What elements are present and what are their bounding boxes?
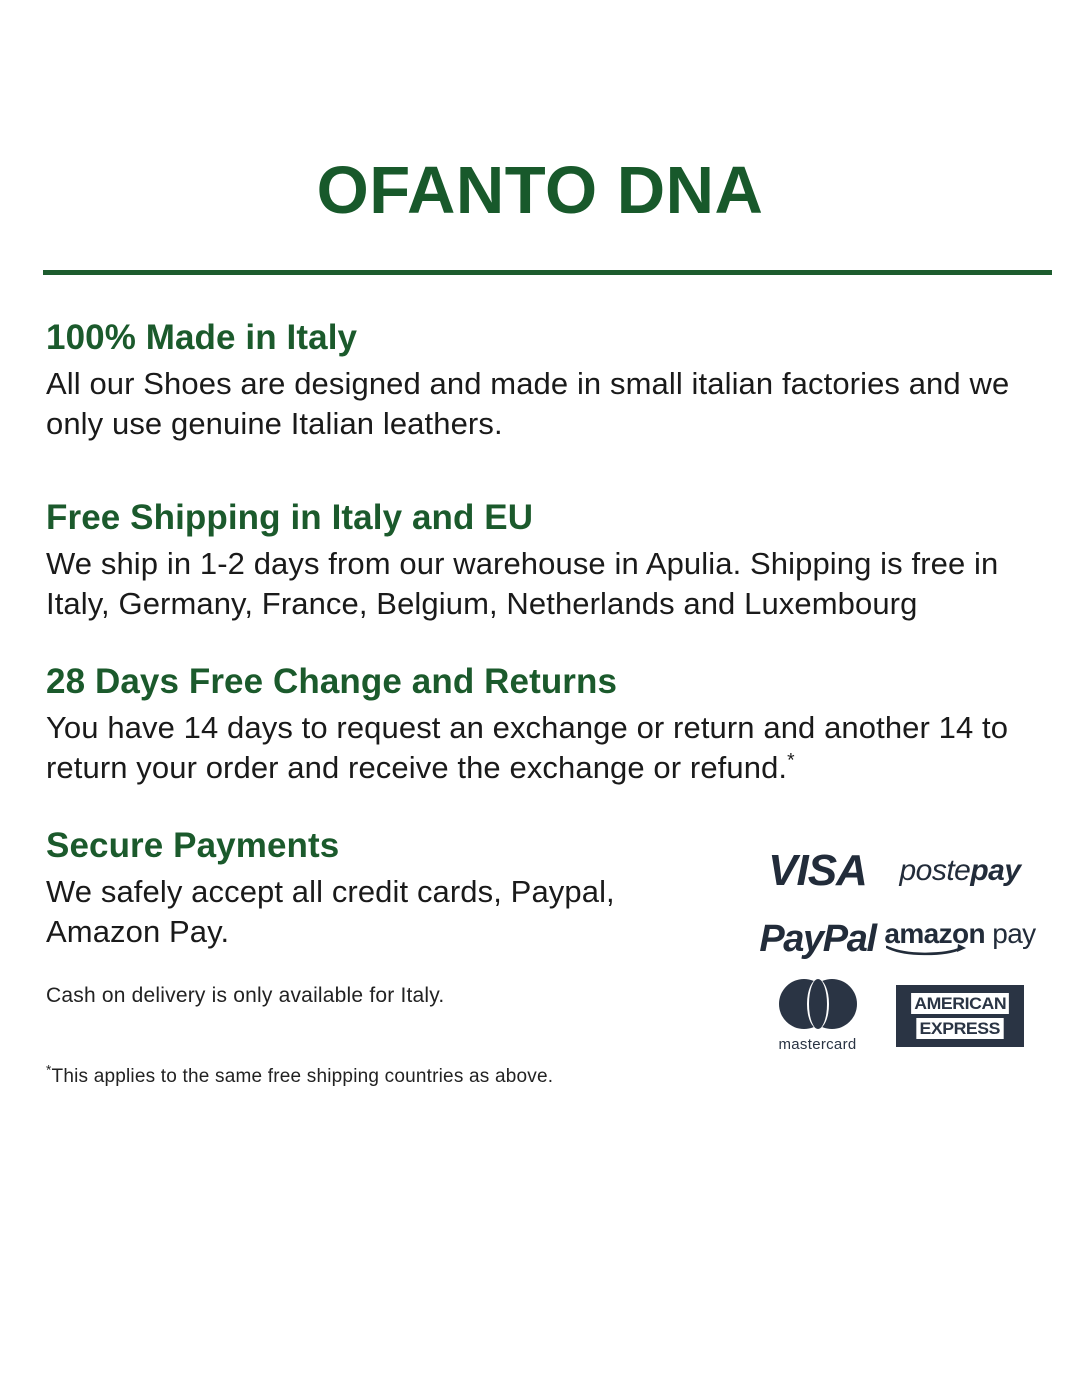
spacer [46,625,1036,661]
amex-line-1: AMERICAN [911,993,1009,1014]
postepay-logo-cell: postepay [885,856,1035,886]
payment-logo-row-3: mastercard AMERICAN EXPRESS [750,973,1040,1059]
amazon-pay-logo-cell: amazon pay [885,920,1035,957]
returns-footnote-marker: * [787,751,795,772]
amex-line-2: EXPRESS [917,1018,1004,1039]
spacer [46,789,1036,825]
section-heading-made-in-italy: 100% Made in Italy [46,317,1036,358]
amazon-pay-label-light: pay [985,918,1036,949]
cash-on-delivery-note: Cash on delivery is only available for I… [46,982,686,1009]
mastercard-label: mastercard [778,1036,856,1053]
section-returns: 28 Days Free Change and Returns You have… [46,661,1036,789]
footer-note: *This applies to the same free shipping … [46,1066,1036,1088]
header-divider [43,270,1052,275]
section-free-shipping: Free Shipping in Italy and EU We ship in… [46,497,1036,625]
amazon-pay-icon: amazon pay [884,920,1035,957]
section-heading-secure-payments: Secure Payments [46,825,686,866]
paypal-logo-cell: PayPal [750,920,885,958]
section-made-in-italy: 100% Made in Italy All our Shoes are des… [46,317,1036,445]
mastercard-icon: mastercard [778,979,856,1053]
mastercard-circle-overlap [807,979,829,1029]
section-secure-payments: Secure Payments We safely accept all cre… [46,825,1036,1010]
page-title: OFANTO DNA [0,45,1080,224]
section-body-made-in-italy: All our Shoes are designed and made in s… [46,364,1036,445]
section-body-returns-text: You have 14 days to request an exchange … [46,710,1008,785]
section-body-returns: You have 14 days to request an exchange … [46,708,1036,789]
visa-logo-cell: VISA [750,849,885,893]
paypal-icon: PayPal [759,920,875,958]
payment-logo-row-2: PayPal amazon pay [750,905,1040,973]
mastercard-circles [779,979,857,1029]
postepay-label-light: poste [899,854,970,887]
amazon-smile-arrow-icon [886,943,972,957]
footer-note-text: This applies to the same free shipping c… [52,1066,554,1087]
spacer [46,952,686,982]
section-body-secure-payments: We safely accept all credit cards, Paypa… [46,872,686,953]
section-heading-returns: 28 Days Free Change and Returns [46,661,1036,702]
mastercard-logo-cell: mastercard [750,979,885,1053]
american-express-icon: AMERICAN EXPRESS [896,985,1024,1047]
section-body-free-shipping: We ship in 1-2 days from our warehouse i… [46,544,1036,625]
section-heading-free-shipping: Free Shipping in Italy and EU [46,497,1036,538]
promo-card: OFANTO DNA 100% Made in Italy All our Sh… [0,45,1080,1395]
spacer [46,445,1036,497]
content-area: 100% Made in Italy All our Shoes are des… [46,317,1036,1088]
postepay-label-bold: pay [970,854,1020,887]
visa-icon: VISA [768,849,867,893]
payment-logo-row-1: VISA postepay [750,837,1040,905]
secure-payments-text: Secure Payments We safely accept all cre… [46,825,686,1010]
amex-logo-cell: AMERICAN EXPRESS [885,985,1035,1047]
postepay-icon: postepay [899,856,1020,886]
payment-logos: VISA postepay PayPal amazon pay [750,837,1040,1059]
